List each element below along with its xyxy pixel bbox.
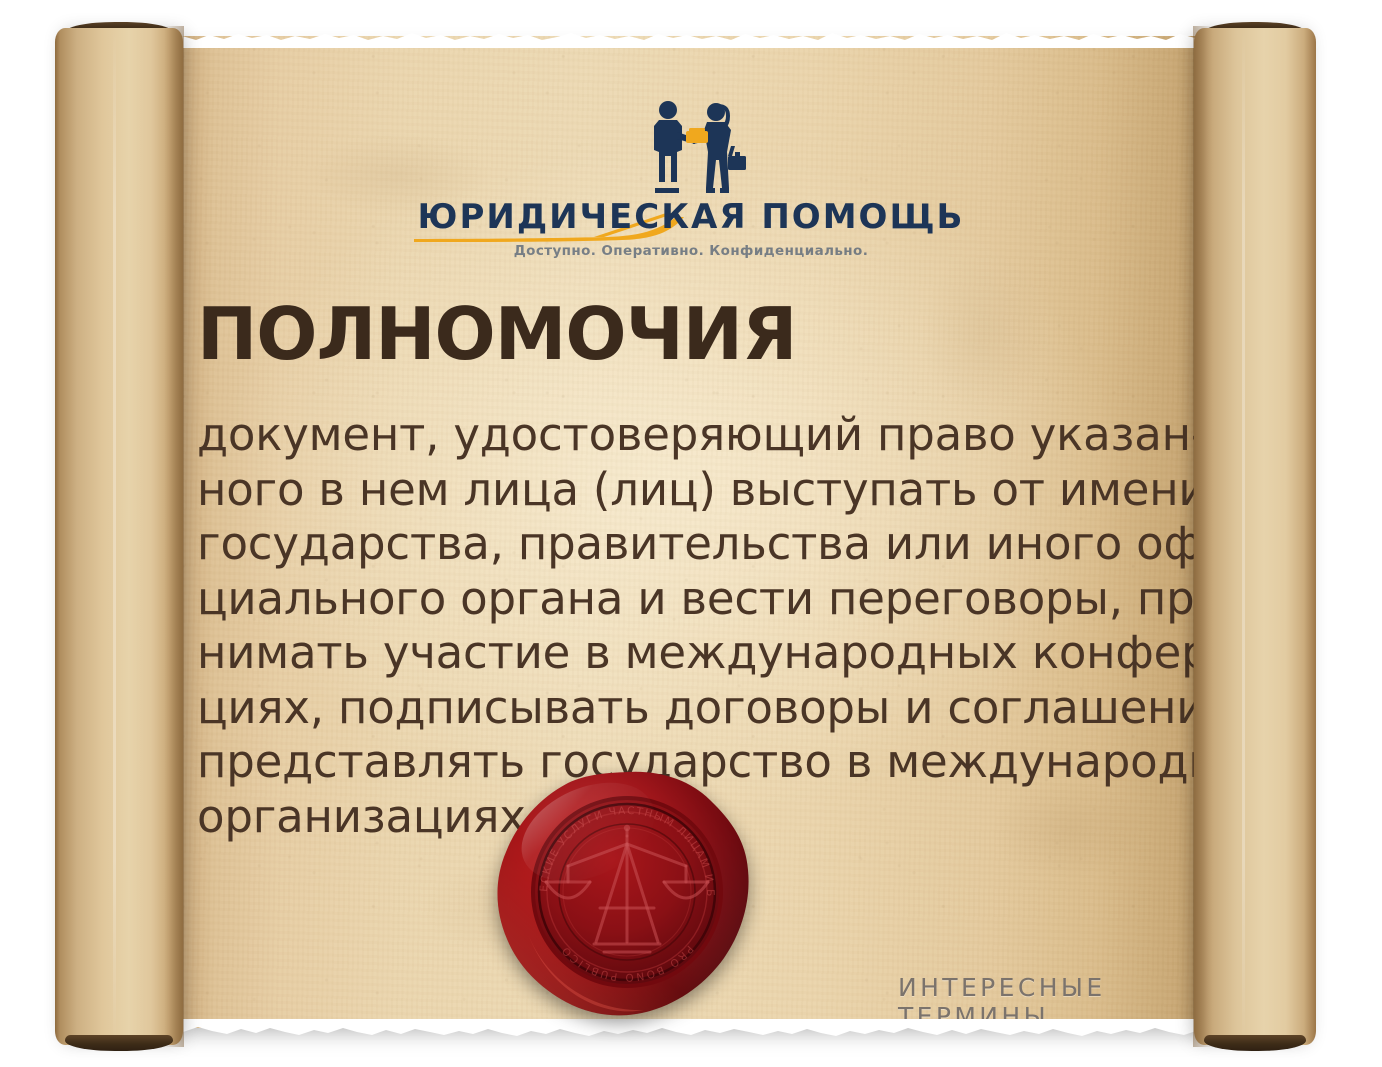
wax-seal-scales-of-justice-icon: ЮРИДИЧЕСКИЕ УСЛУГИ ЧАСТНЫМ ЛИЦАМ И БИЗНЕ… <box>484 766 770 1022</box>
definition-line: документ, удостоверяющий право указан- <box>197 408 1207 463</box>
term-title: ПОЛНОМОЧИЯ <box>197 300 796 369</box>
roll-lip <box>164 26 184 1047</box>
roll-crease <box>113 30 116 1043</box>
brand-tagline: Доступно. Оперативно. Конфиденциально. <box>168 243 1214 259</box>
series-label: ИНТЕРЕСНЫЕ ТЕРМИНЫ <box>898 973 1214 1031</box>
handshake-document-handover-icon <box>632 98 750 206</box>
roll-crease <box>1242 30 1245 1043</box>
scroll-roll-left <box>55 0 183 1067</box>
scroll-roll-right <box>1194 0 1316 1067</box>
roll-cap-bottom <box>65 1035 173 1051</box>
logo-wordmark-group: ЮРИДИЧЕСКАЯ ПОМОЩЬ <box>418 200 965 234</box>
scroll-poster: ЮРИДИЧЕСКАЯ ПОМОЩЬ Доступно. Оперативно.… <box>0 0 1382 1067</box>
roll-lip <box>1193 26 1213 1047</box>
definition-line: ного в нем лица (лиц) выступать от имени <box>197 463 1207 518</box>
brand-logo[interactable]: ЮРИДИЧЕСКАЯ ПОМОЩЬ Доступно. Оперативно.… <box>168 98 1214 259</box>
definition-line: государства, правительства или иного офи… <box>197 517 1207 572</box>
definition-line: циального органа и вести переговоры, при… <box>197 572 1207 627</box>
brand-wordmark: ЮРИДИЧЕСКАЯ ПОМОЩЬ <box>418 200 965 234</box>
roll-cap-bottom <box>1204 1035 1307 1051</box>
definition-line: циях, подписывать договоры и соглашения, <box>197 681 1207 736</box>
definition-line: нимать участие в международных конферен- <box>197 626 1207 681</box>
